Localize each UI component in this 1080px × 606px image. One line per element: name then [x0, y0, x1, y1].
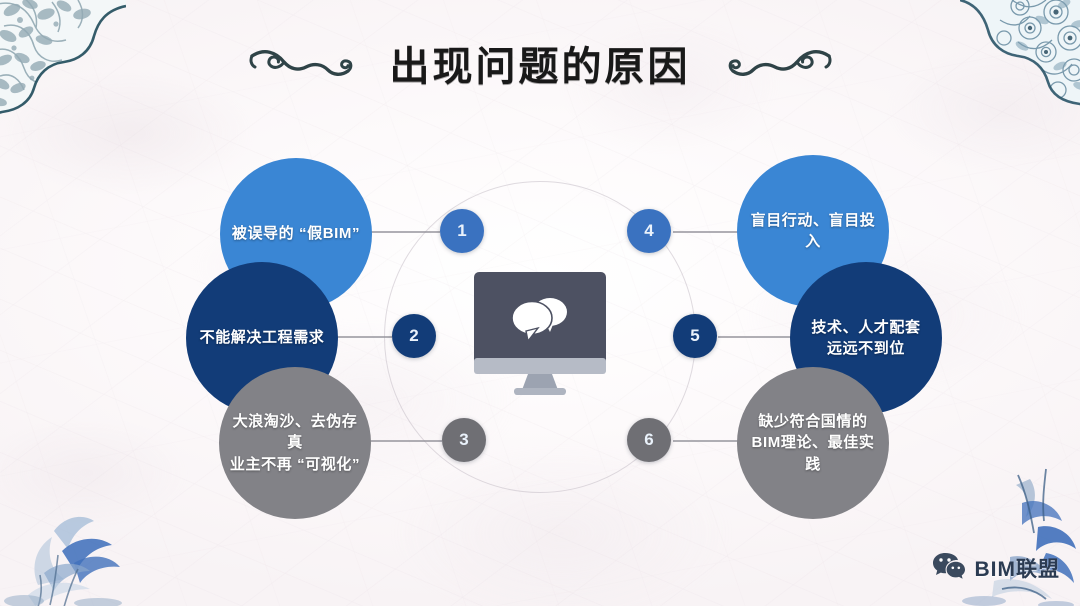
desktop-monitor-chat-icon — [470, 268, 610, 405]
wechat-logo-icon — [932, 551, 966, 584]
node-5[interactable]: 5 — [673, 314, 717, 358]
node-2-label: 2 — [409, 326, 418, 346]
watermark: BIM联盟 — [932, 551, 1061, 584]
node-4[interactable]: 4 — [627, 209, 671, 253]
node-6[interactable]: 6 — [627, 418, 671, 462]
node-5-label: 5 — [690, 326, 699, 346]
reason-bubble-6[interactable]: 缺少符合国情的 BIM理论、最佳实践 — [737, 367, 889, 519]
diagram-stage: 被误导的 “假BIM” 不能解决工程需求 大浪淘沙、去伪存真 业主不再 “可视化… — [0, 0, 1080, 606]
reason-bubble-3[interactable]: 大浪淘沙、去伪存真 业主不再 “可视化” — [219, 367, 371, 519]
node-1-label: 1 — [457, 221, 466, 241]
node-2[interactable]: 2 — [392, 314, 436, 358]
node-4-label: 4 — [644, 221, 653, 241]
node-6-label: 6 — [644, 430, 653, 450]
watermark-text: BIM联盟 — [975, 553, 1061, 583]
node-3-label: 3 — [459, 430, 468, 450]
node-1[interactable]: 1 — [440, 209, 484, 253]
slide-canvas: 出现问题的原因 被误导的 “假BIM” 不能解决工程需求 大浪淘沙、去伪 — [0, 0, 1080, 606]
node-3[interactable]: 3 — [442, 418, 486, 462]
